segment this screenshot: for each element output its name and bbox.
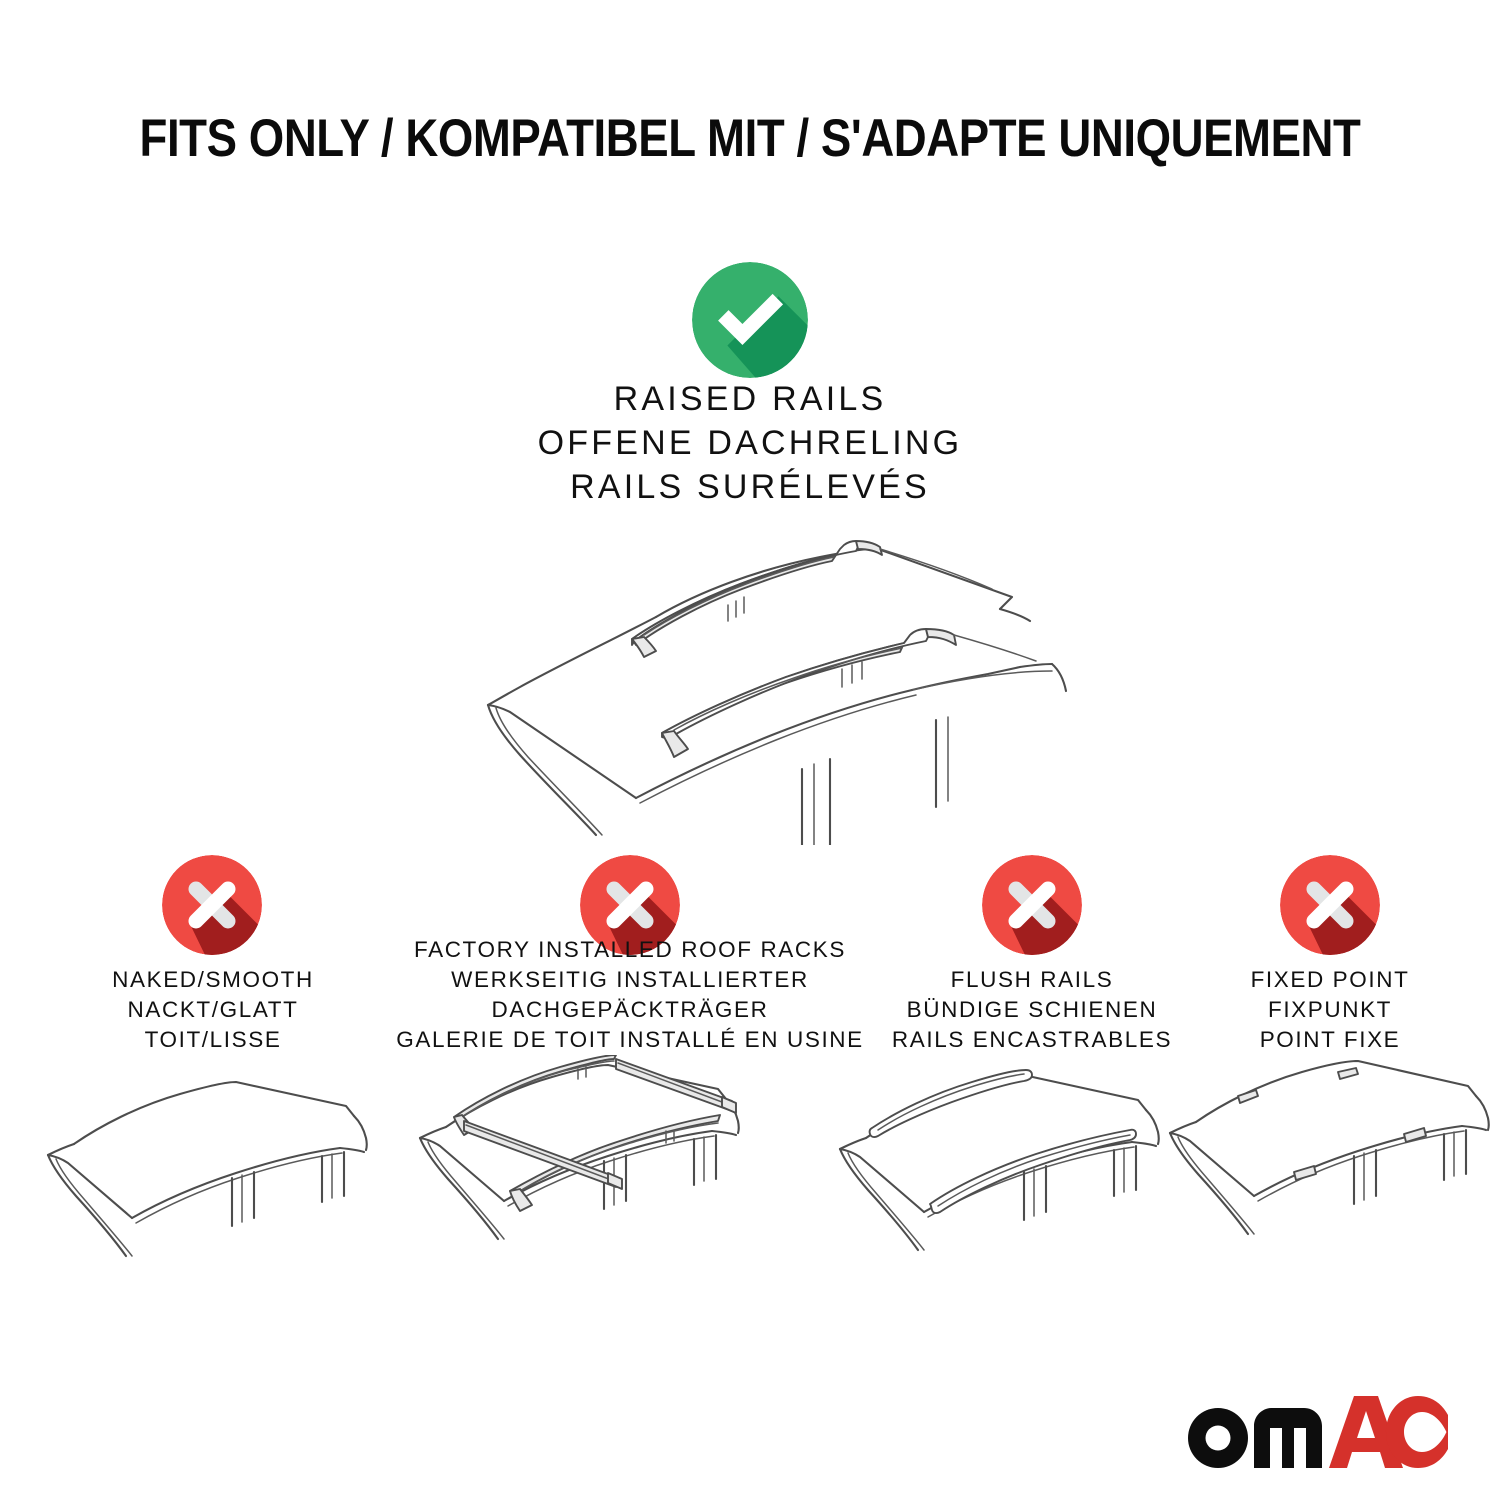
incompatible-label-line-2: FIXPUNKT: [1178, 995, 1482, 1025]
car-roof-raised-rails-illustration: [400, 505, 1100, 845]
incompatible-label-line-4: GALERIE DE TOIT INSTALLÉ EN USINE: [395, 1025, 865, 1055]
incompatible-label-naked-smooth: NAKED/SMOOTH NACKT/GLATT TOIT/LISSE: [42, 965, 384, 1055]
car-roof-flush-rails-illustration: [830, 1060, 1170, 1280]
compatible-label-line-3: RAILS SURÉLEVÉS: [0, 466, 1500, 510]
incompatible-label-line-3: TOIT/LISSE: [42, 1025, 384, 1055]
omac-logo: [1182, 1394, 1448, 1470]
logo-letter-o: [1188, 1408, 1248, 1468]
incompatible-label-fixed-point: FIXED POINT FIXPUNKT POINT FIXE: [1178, 965, 1482, 1055]
incompatible-label-line-1: NAKED/SMOOTH: [42, 965, 384, 995]
car-roof-fixed-point-illustration: [1160, 1060, 1500, 1280]
cross-circle-icon: [982, 855, 1082, 955]
check-circle-icon: [692, 262, 808, 378]
compatible-label-line-2: OFFENE DACHRELING: [0, 422, 1500, 466]
incompatible-label-line-2: NACKT/GLATT: [42, 995, 384, 1025]
incompatible-label-flush-rails: FLUSH RAILS BÜNDIGE SCHIENEN RAILS ENCAS…: [852, 965, 1212, 1055]
incompatible-label-line-3: DACHGEPÄCKTRÄGER: [395, 995, 865, 1025]
incompatible-label-line-1: FLUSH RAILS: [852, 965, 1212, 995]
incompatible-label-line-2: BÜNDIGE SCHIENEN: [852, 995, 1212, 1025]
logo-letter-c: [1386, 1396, 1448, 1468]
incompatible-label-line-1: FACTORY INSTALLED ROOF RACKS: [395, 935, 865, 965]
incompatible-label-line-2: WERKSEITIG INSTALLIERTER: [395, 965, 865, 995]
page-title: FITS ONLY / KOMPATIBEL MIT / S'ADAPTE UN…: [105, 108, 1395, 169]
car-roof-factory-roof-racks-illustration: [410, 1055, 750, 1280]
incompatible-label-line-3: RAILS ENCASTRABLES: [852, 1025, 1212, 1055]
cross-circle-icon: [1280, 855, 1380, 955]
incompatible-label-line-3: POINT FIXE: [1178, 1025, 1482, 1055]
incompatible-label-factory-roof-racks: FACTORY INSTALLED ROOF RACKS WERKSEITIG …: [395, 935, 865, 1055]
compatible-label-line-1: RAISED RAILS: [0, 378, 1500, 422]
cross-circle-icon: [162, 855, 262, 955]
car-roof-naked-smooth-illustration: [40, 1060, 380, 1280]
logo-letter-m: [1254, 1408, 1322, 1468]
incompatible-label-line-1: FIXED POINT: [1178, 965, 1482, 995]
compatible-label: RAISED RAILS OFFENE DACHRELING RAILS SUR…: [0, 378, 1500, 510]
